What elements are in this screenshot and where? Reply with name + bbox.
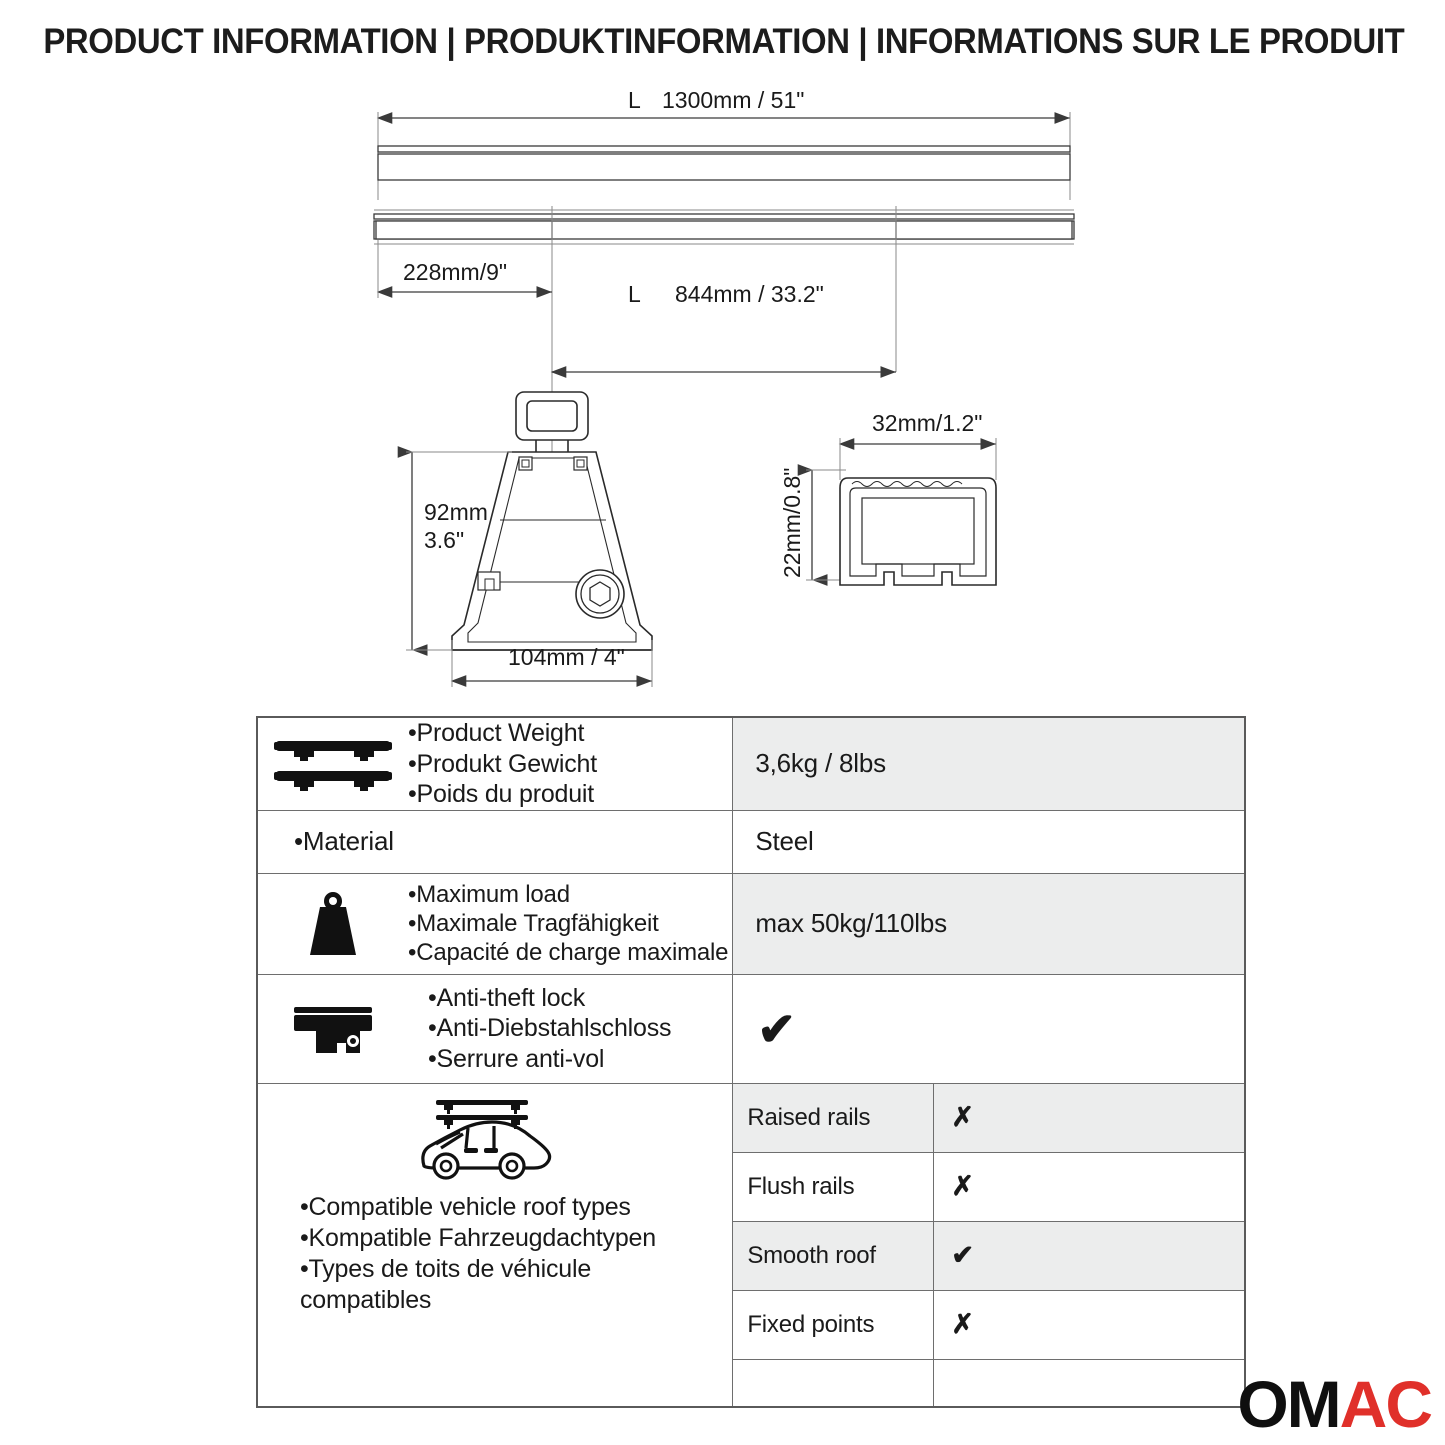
row-value-cell: 3,6kg / 8lbs [733,717,1245,810]
maximum-load-value: max 50kg/110lbs [733,908,1244,939]
omac-logo: OMAC [1237,1371,1431,1437]
row-label-cell: •Material [257,810,733,873]
weight-icon [258,888,408,960]
roof-type-name: Fixed points [733,1290,934,1359]
row-label-cell: •Product Weight •Produkt Gewicht •Poids … [257,717,733,810]
technical-drawing: L 1300mm / 51" [0,80,1445,705]
svg-text:22mm/0.8": 22mm/0.8" [779,468,805,578]
svg-text:L: L [628,87,641,113]
label-line-de: •Maximale Tragfähigkeit [408,909,728,938]
svg-text:844mm / 33.2": 844mm / 33.2" [675,281,824,307]
table-row-material: •Material Steel [257,810,1245,873]
roof-type-row: Fixed points ✗ [733,1290,1244,1359]
page-title: PRODUCT INFORMATION | PRODUKTINFORMATION… [43,22,1401,62]
table-row-roof-compatibility: •Compatible vehicle roof types •Kompatib… [257,1083,1245,1407]
roof-type-spacer-left [733,1359,934,1406]
material-label: •Material [258,826,732,857]
roof-type-support: ✔ [934,1221,1244,1290]
product-weight-value: 3,6kg / 8lbs [733,748,1244,779]
svg-text:32mm/1.2": 32mm/1.2" [872,410,982,436]
logo-text-om: OM [1237,1367,1339,1441]
label-line-fr: •Serrure anti-vol [428,1044,671,1075]
compat-line-fr: •Types de toits de véhicule [300,1254,656,1285]
svg-text:1300mm / 51": 1300mm / 51" [662,87,804,113]
row-label-cell: •Maximum load •Maximale Tragfähigkeit •C… [257,873,733,974]
product-information-page: PRODUCT INFORMATION | PRODUKTINFORMATION… [0,0,1445,1445]
row-label-text: •Product Weight •Produkt Gewicht •Poids … [408,718,601,810]
crossbars-icon [258,735,408,793]
roof-type-support: ✗ [934,1152,1244,1221]
label-line-en: •Maximum load [408,880,728,909]
row-value-cell: max 50kg/110lbs [733,873,1245,974]
label-line-de: •Anti-Diebstahlschloss [428,1013,671,1044]
compat-line-de: •Kompatible Fahrzeugdachtypen [300,1223,656,1254]
table-row-product-weight: •Product Weight •Produkt Gewicht •Poids … [257,717,1245,810]
svg-text:3.6": 3.6" [424,527,464,553]
roof-type-name: Flush rails [733,1152,934,1221]
roof-type-support: ✗ [934,1084,1244,1153]
compatibility-label-text: •Compatible vehicle roof types •Kompatib… [300,1192,656,1316]
row-value-cell: ✔ [733,974,1245,1083]
row-label-cell: •Anti-theft lock •Anti-Diebstahlschloss … [257,974,733,1083]
compat-line-fr-cont: compatibles [300,1285,656,1316]
roof-type-name: Raised rails [733,1084,934,1153]
label-line-fr: •Poids du produit [408,779,597,810]
roof-type-spacer-right [934,1359,1244,1406]
roof-types-table: Raised rails ✗ Flush rails ✗ Smooth roof… [733,1084,1244,1406]
row-value-cell: Steel [733,810,1245,873]
label-line-de: •Produkt Gewicht [408,749,597,780]
svg-text:228mm/9": 228mm/9" [403,259,507,285]
car-with-rack-icon [408,1092,558,1189]
roof-types-cell: Raised rails ✗ Flush rails ✗ Smooth roof… [733,1083,1245,1407]
row-label-text: •Maximum load •Maximale Tragfähigkeit •C… [408,880,732,968]
specifications-table: •Product Weight •Produkt Gewicht •Poids … [256,716,1246,1408]
roof-type-row: Smooth roof ✔ [733,1221,1244,1290]
logo-text-ac: AC [1340,1367,1431,1441]
material-value: Steel [733,826,1244,857]
roof-type-row: Raised rails ✗ [733,1084,1244,1153]
roof-type-name: Smooth roof [733,1221,934,1290]
compatibility-label-cell: •Compatible vehicle roof types •Kompatib… [257,1083,733,1407]
label-line-en: •Anti-theft lock [428,983,671,1014]
table-row-anti-theft-lock: •Anti-theft lock •Anti-Diebstahlschloss … [257,974,1245,1083]
table-row-maximum-load: •Maximum load •Maximale Tragfähigkeit •C… [257,873,1245,974]
svg-text:104mm / 4": 104mm / 4" [508,644,625,670]
compat-line-en: •Compatible vehicle roof types [300,1192,656,1223]
label-line-fr: •Capacité de charge maximale [408,938,728,967]
svg-text:92mm: 92mm [424,499,488,525]
svg-text:L: L [628,281,641,307]
lock-icon [258,1001,408,1057]
row-label-text: •Anti-theft lock •Anti-Diebstahlschloss … [408,983,675,1075]
roof-type-support: ✗ [934,1290,1244,1359]
roof-type-row: Flush rails ✗ [733,1152,1244,1221]
anti-theft-lock-check: ✔ [733,1006,1244,1052]
roof-type-row-spacer [733,1359,1244,1406]
label-line-en: •Product Weight [408,718,597,749]
